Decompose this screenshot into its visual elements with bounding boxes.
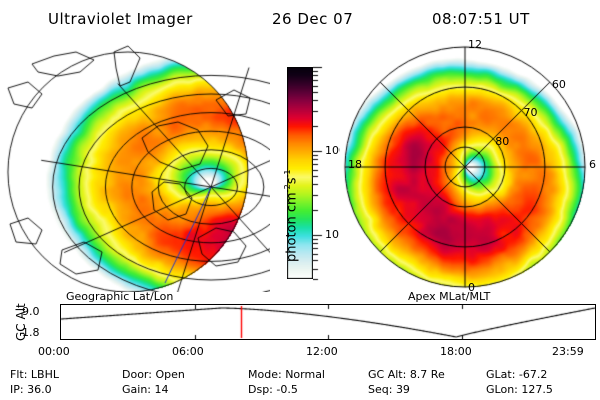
right-panel-caption: Apex MLat/MLT	[408, 290, 490, 303]
status-value: 39	[396, 383, 410, 396]
status-key: GLat:	[486, 368, 519, 381]
colorbar-tick-10: 10	[325, 228, 339, 241]
status-value: 8.7 Re	[410, 368, 445, 381]
colorbar-unit-sec: s	[284, 178, 299, 185]
status-value: LBHL	[31, 368, 59, 381]
status-key: Door:	[122, 368, 155, 381]
left-panel-caption: Geographic Lat/Lon	[66, 290, 173, 303]
geographic-aurora-image	[2, 42, 270, 292]
status-dsp: Dsp: -0.5	[248, 383, 298, 396]
status-seq: Seq: 39	[368, 383, 410, 396]
status-value: 14	[155, 383, 169, 396]
instrument-title: Ultraviolet Imager	[48, 10, 193, 28]
altitude-tick-max: 9.0	[22, 305, 40, 318]
status-glon: GLon: 127.5	[486, 383, 553, 396]
status-key: Mode:	[248, 368, 285, 381]
status-key: Flt:	[10, 368, 31, 381]
altitude-tick-min: 1.8	[22, 326, 40, 339]
colorbar-axis-label: photon cm-2s-1	[283, 169, 299, 262]
status-ip: IP: 36.0	[10, 383, 52, 396]
status-value: 127.5	[521, 383, 553, 396]
status-value: Normal	[285, 368, 325, 381]
mlat-label-60: 60	[552, 78, 566, 91]
time-tick-1: 06:00	[172, 345, 204, 358]
status-flt: Flt: LBHL	[10, 368, 59, 381]
status-value: -67.2	[519, 368, 547, 381]
status-value: 36.0	[27, 383, 52, 396]
status-gc-alt: GC Alt: 8.7 Re	[368, 368, 445, 381]
observation-time: 08:07:51 UT	[432, 10, 530, 28]
orbit-altitude-trace	[61, 305, 595, 339]
mlt-label-12: 12	[468, 38, 482, 51]
mlt-label-6: 6	[589, 158, 596, 171]
status-key: Dsp:	[248, 383, 276, 396]
status-mode: Mode: Normal	[248, 368, 325, 381]
status-key: Gain:	[122, 383, 155, 396]
time-tick-3: 18:00	[440, 345, 472, 358]
status-gain: Gain: 14	[122, 383, 169, 396]
status-value: -0.5	[276, 383, 297, 396]
status-value: Open	[155, 368, 184, 381]
status-door: Door: Open	[122, 368, 185, 381]
status-glat: GLat: -67.2	[486, 368, 547, 381]
mlt-label-18: 18	[348, 158, 362, 171]
status-key: GC Alt:	[368, 368, 410, 381]
mlat-label-80: 80	[495, 135, 509, 148]
colorbar-unit-photon: photon cm	[284, 192, 299, 262]
time-tick-0: 00:00	[38, 345, 70, 358]
orbit-altitude-plot[interactable]	[60, 304, 596, 340]
uvi-display: Ultraviolet Imager 26 Dec 07 08:07:51 UT…	[0, 0, 600, 400]
status-key: Seq:	[368, 383, 396, 396]
observation-date: 26 Dec 07	[272, 10, 353, 28]
colorbar-unit-exp1: -2	[283, 184, 292, 192]
colorbar-unit-exp2: -1	[283, 169, 292, 177]
time-tick-4: 23:59	[552, 345, 584, 358]
status-key: GLon:	[486, 383, 521, 396]
status-key: IP:	[10, 383, 27, 396]
mlat-label-70: 70	[524, 106, 538, 119]
time-tick-2: 12:00	[306, 345, 338, 358]
